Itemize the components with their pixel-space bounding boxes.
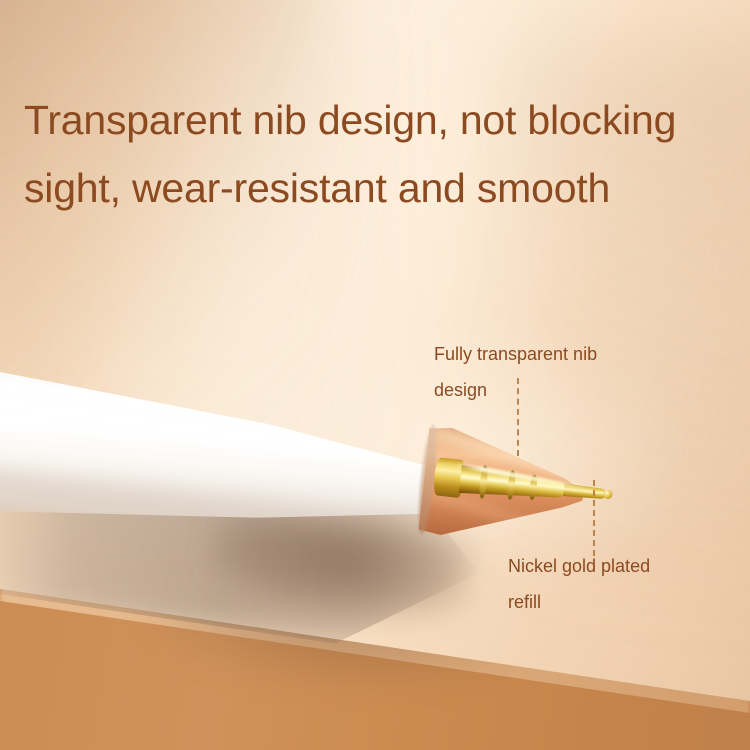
callout-fully-transparent-nib: Fully transparent nib design	[434, 336, 694, 408]
product-marketing-image: Transparent nib design, not blocking sig…	[0, 0, 750, 750]
leader-line-refill	[593, 480, 595, 556]
callout-nickel-gold-plated-refill: Nickel gold plated refill	[508, 548, 748, 620]
headline: Transparent nib design, not blocking sig…	[24, 86, 724, 222]
refill-tip-cap	[603, 489, 613, 499]
